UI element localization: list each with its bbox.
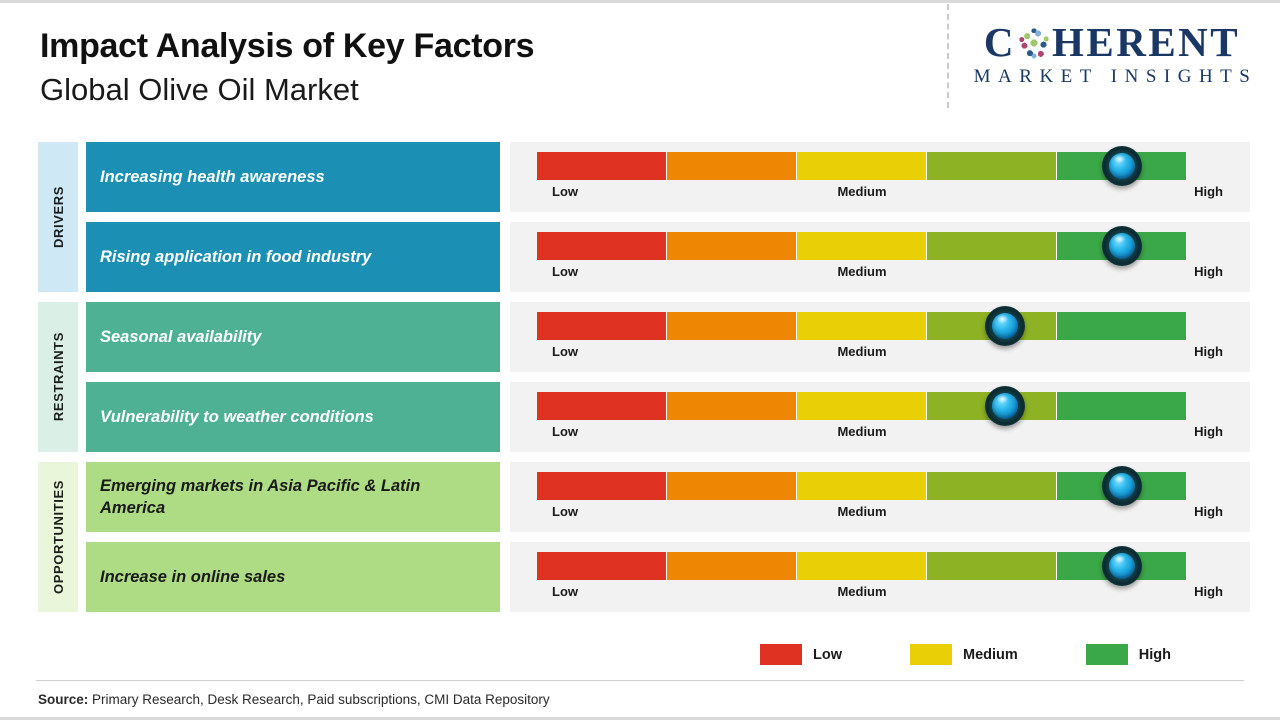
- impact-gauge[interactable]: Low Medium High: [510, 142, 1250, 212]
- gauge-segment-mid-high: [927, 472, 1057, 500]
- scale-label-medium: Medium: [537, 504, 1187, 519]
- logo-letter-c: C: [984, 22, 1016, 63]
- logo-rest: HERENT: [1052, 22, 1240, 63]
- page-subtitle: Global Olive Oil Market: [40, 71, 534, 110]
- gauge-segment-medium: [797, 232, 927, 260]
- gauge-segment-medium: [797, 152, 927, 180]
- gauge-bar: [537, 472, 1187, 500]
- impact-matrix: DRIVERS Increasing health awareness: [38, 142, 1250, 612]
- scale-label-medium: Medium: [537, 584, 1187, 599]
- gauge-segment-low-mid: [667, 552, 797, 580]
- gauge-segment-high: [1057, 312, 1187, 340]
- legend-swatch-medium: [910, 644, 952, 665]
- slide-root: Impact Analysis of Key Factors Global Ol…: [0, 0, 1280, 720]
- impact-marker[interactable]: [1102, 546, 1142, 586]
- factor-box[interactable]: Seasonal availability: [86, 302, 500, 372]
- group-restraints: RESTRAINTS Seasonal availability: [38, 302, 1250, 452]
- globe-dots-icon: [1017, 26, 1051, 60]
- gauge-segment-low: [537, 232, 667, 260]
- gauge-segment-low-mid: [667, 312, 797, 340]
- gauge-segment-low: [537, 392, 667, 420]
- gauge-segment-mid-high: [927, 232, 1057, 260]
- gauge-segment-medium: [797, 392, 927, 420]
- gauge-segment-low-mid: [667, 392, 797, 420]
- category-label-opportunities: OPPORTUNITIES: [38, 462, 78, 612]
- gauge-scale-labels: Low Medium High: [537, 504, 1187, 524]
- scale-label-high: High: [1194, 424, 1223, 439]
- impact-marker[interactable]: [1102, 466, 1142, 506]
- impact-marker[interactable]: [1102, 226, 1142, 266]
- scale-label-medium: Medium: [537, 424, 1187, 439]
- table-row: Seasonal availability Low: [86, 302, 1250, 372]
- source-text: Primary Research, Desk Research, Paid su…: [88, 692, 549, 707]
- factor-label: Increasing health awareness: [100, 166, 325, 188]
- gauge-segment-mid-high: [927, 152, 1057, 180]
- factor-box[interactable]: Rising application in food industry: [86, 222, 500, 292]
- gauge-segment-medium: [797, 552, 927, 580]
- gauge-scale-labels: Low Medium High: [537, 264, 1187, 284]
- gauge-scale-labels: Low Medium High: [537, 584, 1187, 604]
- impact-gauge[interactable]: Low Medium High: [510, 462, 1250, 532]
- legend-swatch-low: [760, 644, 802, 665]
- gauge-segment-high: [1057, 392, 1187, 420]
- source-label: Source:: [38, 692, 88, 707]
- category-label-drivers: DRIVERS: [38, 142, 78, 292]
- scale-label-medium: Medium: [537, 184, 1187, 199]
- top-divider: [0, 0, 1280, 3]
- gauge-segment-low: [537, 312, 667, 340]
- gauge-scale-labels: Low Medium High: [537, 424, 1187, 444]
- gauge-segment-low-mid: [667, 152, 797, 180]
- legend-item-high: High: [1086, 644, 1171, 665]
- table-row: Vulnerability to weather conditions: [86, 382, 1250, 452]
- legend-label-high: High: [1139, 647, 1171, 663]
- brand-logo: C HERENT MARKET INSIGHTS: [962, 22, 1262, 88]
- gauge-bar: [537, 152, 1187, 180]
- source-note: Source: Primary Research, Desk Research,…: [38, 692, 550, 707]
- impact-marker[interactable]: [985, 306, 1025, 346]
- gauge-bar: [537, 552, 1187, 580]
- legend: Low Medium High: [760, 644, 1171, 665]
- group-opportunities: OPPORTUNITIES Emerging markets in Asia P…: [38, 462, 1250, 612]
- factor-label: Rising application in food industry: [100, 246, 371, 268]
- impact-gauge[interactable]: Low Medium High: [510, 302, 1250, 372]
- footer-divider: [36, 680, 1244, 681]
- scale-label-high: High: [1194, 504, 1223, 519]
- factor-label: Increase in online sales: [100, 566, 285, 588]
- factor-label: Seasonal availability: [100, 326, 261, 348]
- factor-box[interactable]: Emerging markets in Asia Pacific & Latin…: [86, 462, 500, 532]
- gauge-bar: [537, 312, 1187, 340]
- factor-label: Emerging markets in Asia Pacific & Latin…: [100, 475, 486, 520]
- page-title: Impact Analysis of Key Factors: [40, 26, 534, 67]
- rows-drivers: Increasing health awareness Low: [86, 142, 1250, 292]
- gauge-segment-low: [537, 152, 667, 180]
- rows-opportunities: Emerging markets in Asia Pacific & Latin…: [86, 462, 1250, 612]
- factor-box[interactable]: Increasing health awareness: [86, 142, 500, 212]
- gauge-segment-medium: [797, 472, 927, 500]
- legend-swatch-high: [1086, 644, 1128, 665]
- rows-restraints: Seasonal availability Low: [86, 302, 1250, 452]
- table-row: Rising application in food industry: [86, 222, 1250, 292]
- gauge-segment-low: [537, 552, 667, 580]
- gauge-scale-labels: Low Medium High: [537, 184, 1187, 204]
- gauge-segment-medium: [797, 312, 927, 340]
- logo-wordmark: C HERENT: [962, 22, 1262, 63]
- impact-marker[interactable]: [1102, 146, 1142, 186]
- factor-box[interactable]: Vulnerability to weather conditions: [86, 382, 500, 452]
- legend-item-medium: Medium: [910, 644, 1018, 665]
- scale-label-medium: Medium: [537, 344, 1187, 359]
- table-row: Increasing health awareness Low: [86, 142, 1250, 212]
- category-label-restraints: RESTRAINTS: [38, 302, 78, 452]
- factor-box[interactable]: Increase in online sales: [86, 542, 500, 612]
- factor-label: Vulnerability to weather conditions: [100, 406, 374, 428]
- scale-label-high: High: [1194, 344, 1223, 359]
- header: Impact Analysis of Key Factors Global Ol…: [40, 26, 534, 110]
- gauge-scale-labels: Low Medium High: [537, 344, 1187, 364]
- scale-label-high: High: [1194, 264, 1223, 279]
- scale-label-medium: Medium: [537, 264, 1187, 279]
- scale-label-high: High: [1194, 584, 1223, 599]
- legend-label-low: Low: [813, 647, 842, 663]
- legend-item-low: Low: [760, 644, 842, 665]
- gauge-segment-low-mid: [667, 472, 797, 500]
- table-row: Increase in online sales Low: [86, 542, 1250, 612]
- group-drivers: DRIVERS Increasing health awareness: [38, 142, 1250, 292]
- impact-marker[interactable]: [985, 386, 1025, 426]
- impact-gauge[interactable]: Low Medium High: [510, 222, 1250, 292]
- gauge-bar: [537, 232, 1187, 260]
- gauge-segment-mid-high: [927, 552, 1057, 580]
- gauge-segment-low: [537, 472, 667, 500]
- gauge-segment-low-mid: [667, 232, 797, 260]
- logo-tagline: MARKET INSIGHTS: [962, 66, 1262, 88]
- impact-gauge[interactable]: Low Medium High: [510, 382, 1250, 452]
- impact-gauge[interactable]: Low Medium High: [510, 542, 1250, 612]
- scale-label-high: High: [1194, 184, 1223, 199]
- gauge-bar: [537, 392, 1187, 420]
- legend-label-medium: Medium: [963, 647, 1018, 663]
- table-row: Emerging markets in Asia Pacific & Latin…: [86, 462, 1250, 532]
- header-dashed-divider: [947, 4, 949, 108]
